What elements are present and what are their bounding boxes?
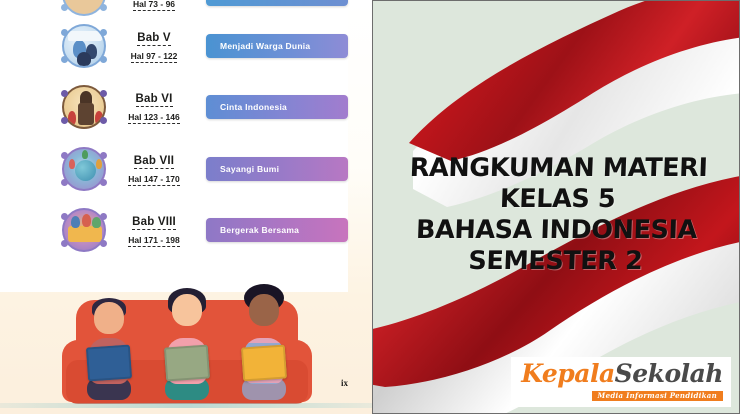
chapter-pages: Hal 73 - 96 [133,0,175,11]
chapter-circle-icon [58,204,110,256]
chapter-label-block: Bab VII Hal 147 - 170 [116,151,192,187]
chapter-pill[interactable]: Bergerak Bersama [206,218,348,242]
child-figure [232,278,296,400]
child-figure [156,280,218,400]
chapter-title: Bab VI [136,93,173,107]
floor-divider [0,403,372,408]
textbook-toc-panel: Bab IV Hal 73 - 96 Kegiatan Ekonomi [0,0,372,414]
chapter-circle-icon [58,81,110,133]
chapter-pages: Hal 123 - 146 [128,112,180,124]
chapter-label-block: Bab VI Hal 123 - 146 [116,89,192,125]
kepalasekolah-logo: KepalaSekolah Media Informasi Pendidikan [511,357,731,407]
chapter-pill[interactable]: Cinta Indonesia [206,95,348,119]
chapter-title: Bab VII [134,155,174,169]
chapter-row[interactable]: Bab VI Hal 123 - 146 Cinta Indonesia [0,79,348,135]
chapter-label-block: Bab IV Hal 73 - 96 [116,0,192,12]
chapter-pages: Hal 171 - 198 [128,235,180,247]
chapter-pill[interactable]: Menjadi Warga Dunia [206,34,348,58]
chapter-pill[interactable]: Kegiatan Ekonomi [206,0,348,6]
chapter-label-block: Bab V Hal 97 - 122 [116,28,192,64]
poster-title-line-3: SEMESTER 2 [372,246,740,277]
chapter-row[interactable]: Bab VIII Hal 171 - 198 Bergerak Bersama [0,202,348,258]
logo-tagline: Media Informasi Pendidikan [592,391,723,401]
chapter-title: Bab VIII [132,216,176,230]
chapter-label-block: Bab VIII Hal 171 - 198 [116,212,192,248]
chapter-circle-icon [58,0,110,20]
logo-sekolah: Sekolah [615,359,723,388]
children-reading-illustration [62,254,312,414]
chapter-circle-icon [58,143,110,195]
poster-title-line-1: RANGKUMAN MATERI KELAS 5 [373,153,740,215]
poster-panel: RANGKUMAN MATERI KELAS 5 BAHASA INDONESI… [372,0,740,414]
poster-title: RANGKUMAN MATERI KELAS 5 BAHASA INDONESI… [372,153,740,277]
chapter-title: Bab V [137,32,171,46]
poster-screenshot: Bab IV Hal 73 - 96 Kegiatan Ekonomi [0,0,740,414]
chapter-row[interactable]: Bab VII Hal 147 - 170 Sayangi Bumi [0,141,348,197]
logo-kepala: Kepala [521,359,614,388]
logo-wordmark: KepalaSekolah [521,361,723,386]
chapter-row[interactable]: Bab V Hal 97 - 122 Menjadi Warga Dunia [0,18,348,74]
chapter-pages: Hal 147 - 170 [128,174,180,186]
chapter-pages: Hal 97 - 122 [131,51,178,63]
page-number: ix [341,378,348,388]
child-figure [78,284,140,400]
chapter-pill[interactable]: Sayangi Bumi [206,157,348,181]
poster-title-line-2: BAHASA INDONESIA [372,215,740,246]
chapter-circle-icon [58,20,110,72]
